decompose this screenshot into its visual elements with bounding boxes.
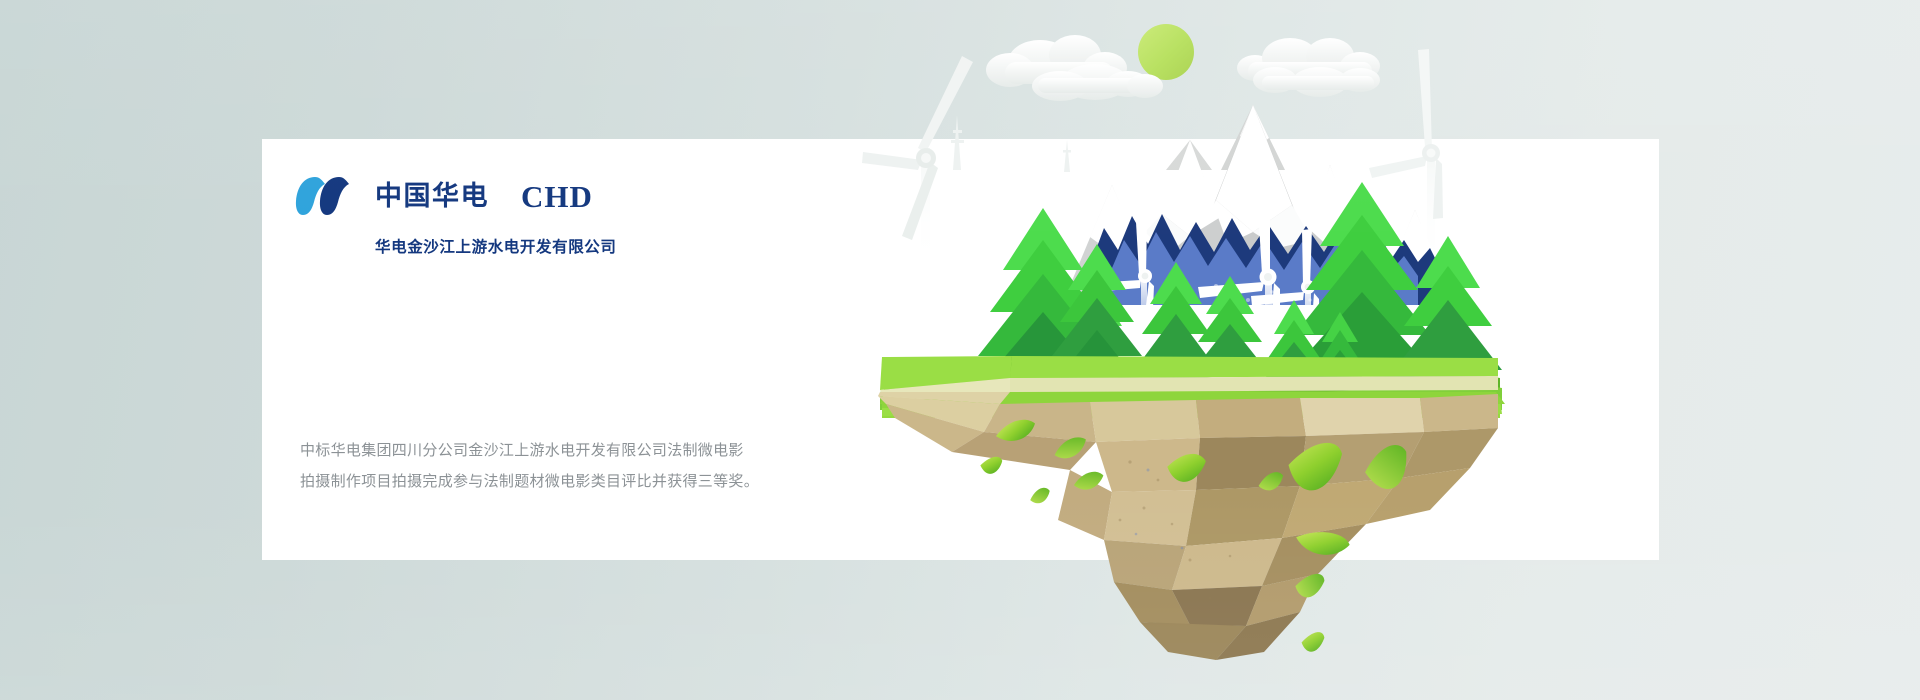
chd-logo-icon — [295, 175, 357, 217]
brand-primary-row: 中国华电 CHD — [295, 174, 915, 218]
sun-icon — [1138, 24, 1194, 80]
brand-name-cn: 中国华电 — [375, 183, 489, 210]
brand-name-en: CHD — [521, 181, 593, 212]
cloud-right-icon — [1237, 38, 1380, 97]
description-text: 中标华电集团四川分公司金沙江上游水电开发有限公司法制微电影 拍摄制作项目拍摄完成… — [300, 435, 920, 497]
description-line-2: 拍摄制作项目拍摄完成参与法制题材微电影类目评比并获得三等奖。 — [300, 466, 920, 497]
brand-block: 中国华电 CHD 华电金沙江上游水电开发有限公司 — [295, 174, 915, 269]
banner-stage: 中国华电 CHD 华电金沙江上游水电开发有限公司 中标华电集团四川分公司金沙江上… — [0, 0, 1920, 700]
brand-subsidiary-name: 华电金沙江上游水电开发有限公司 — [375, 235, 915, 257]
cloud-left-icon — [986, 35, 1163, 101]
description-line-1: 中标华电集团四川分公司金沙江上游水电开发有限公司法制微电影 — [300, 435, 920, 466]
